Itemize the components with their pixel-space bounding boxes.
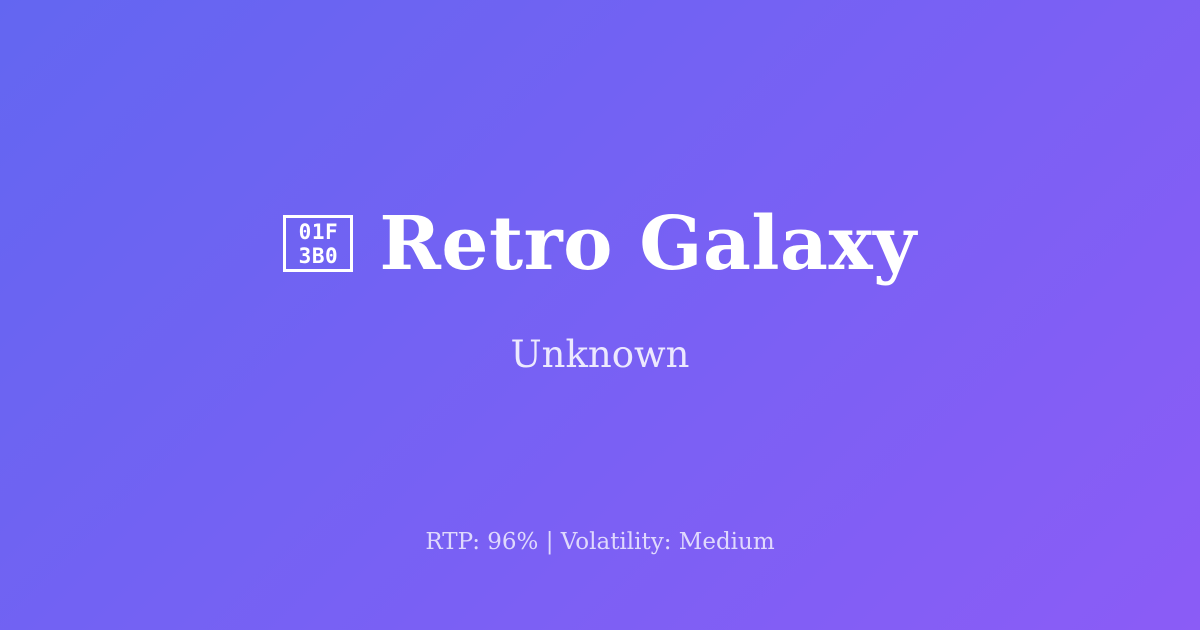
slot-machine-icon: 01F 3B0 <box>283 215 353 272</box>
game-title: Retro Galaxy <box>379 207 916 281</box>
codepoint-row-top: 01F <box>299 220 338 244</box>
title-row: 01F 3B0 Retro Galaxy <box>283 198 916 290</box>
game-stats-line: RTP: 96% | Volatility: Medium <box>0 528 1200 556</box>
codepoint-row-bottom: 3B0 <box>299 244 338 268</box>
game-provider: Unknown <box>510 336 689 373</box>
game-preview-card: 01F 3B0 Retro Galaxy Unknown RTP: 96% | … <box>0 0 1200 630</box>
